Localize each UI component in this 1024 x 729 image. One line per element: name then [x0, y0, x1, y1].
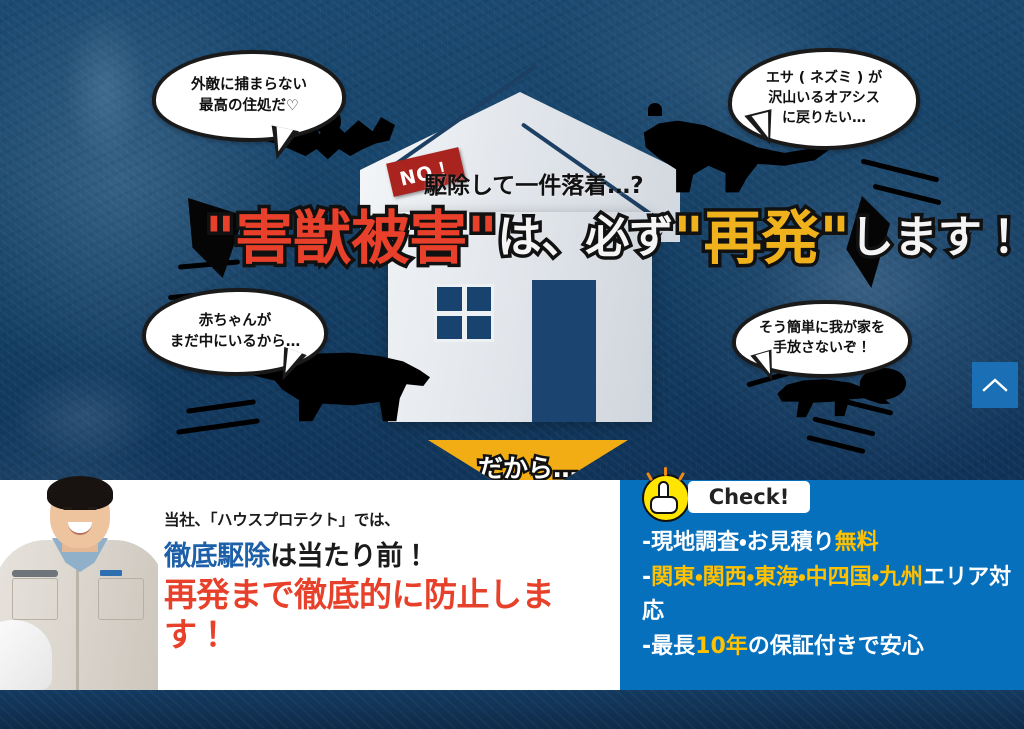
bubble-line: 外敵に捕まらない — [191, 75, 307, 96]
check-item-pre: - — [642, 565, 651, 590]
marten-speech-bubble: エサ ( ネズミ ) が 沢山いるオアシス に戻りたい… — [728, 48, 920, 150]
raccoon-speech-bubble: 赤ちゃんが まだ中にいるから… — [142, 288, 328, 376]
chevron-up-icon — [982, 377, 1008, 393]
bubble-line: そう簡単に我が家を — [759, 319, 885, 339]
rat-speech-bubble: そう簡単に我が家を 手放さないぞ！ — [732, 300, 912, 378]
marten-ear-icon — [648, 103, 662, 116]
copy-line-2-strong: 徹底駆除 — [164, 541, 270, 572]
check-item: -関東・関西・東海・中四国・九州エリア対応 — [642, 561, 1014, 628]
check-item-highlight: 関東・関西・東海・中四国・九州 — [651, 565, 923, 590]
bubble-line: エサ ( ネズミ ) が — [766, 69, 882, 89]
bubble-line: 沢山いるオアシス — [766, 89, 882, 109]
staff-photo — [0, 474, 158, 690]
copy-line-2: 徹底駆除は当たり前！ — [164, 534, 614, 573]
page-root: 外敵に捕まらない 最高の住処だ♡ エサ ( ネズミ ) が 沢山いるオアシス に… — [0, 0, 1024, 729]
copy-line-1: 当社、「ハウスプロテクト」では、 — [164, 508, 614, 530]
check-panel: Check! -現地調査・お見積り無料 -関東・関西・東海・中四国・九州エリア対… — [620, 480, 1024, 690]
copy-line-3: 再発まで徹底的に防止します！ — [164, 575, 614, 656]
check-item-highlight: 無料 — [835, 530, 879, 555]
bubble-line: に戻りたい… — [766, 109, 882, 129]
check-item-highlight: 10年 — [695, 634, 748, 659]
check-label: Check! — [688, 481, 810, 513]
pointing-hand-icon — [642, 474, 690, 522]
headline-part-recurrence: "再発" — [673, 197, 849, 279]
headline-part-connector: は、必ず — [497, 197, 673, 279]
headline-part-damage: "害獣被害" — [205, 197, 497, 279]
copy-line-2-rest: は当たり前！ — [270, 541, 429, 572]
lower-copy-block: 当社、「ハウスプロテクト」では、 徹底駆除は当たり前！ 再発まで徹底的に防止しま… — [164, 508, 614, 656]
footer-strip — [0, 690, 1024, 729]
check-item: -最長10年の保証付きで安心 — [642, 630, 1014, 663]
house-door — [532, 280, 596, 422]
bubble-line: 赤ちゃんが — [170, 311, 301, 332]
check-item: -現地調査・お見積り無料 — [642, 526, 1014, 559]
headline-part-suffix: します！ — [850, 197, 1024, 279]
check-item-pre: -現地調査・お見積り — [642, 530, 835, 555]
bubble-line: 最高の住処だ♡ — [191, 96, 307, 117]
bubble-line: 手放さないぞ！ — [759, 339, 885, 359]
bat-speech-bubble: 外敵に捕まらない 最高の住処だ♡ — [152, 50, 346, 142]
check-list: -現地調査・お見積り無料 -関東・関西・東海・中四国・九州エリア対応 -最長10… — [642, 526, 1014, 666]
uniform-logo-icon — [100, 570, 122, 576]
hero-headline: "害獣被害"は、必ず"再発"します！ — [205, 196, 885, 278]
check-item-post: の保証付きで安心 — [748, 634, 924, 659]
bubble-line: まだ中にいるから… — [170, 332, 301, 353]
check-item-pre: -最長 — [642, 634, 695, 659]
check-badge: Check! — [642, 476, 962, 518]
hero-subheadline: 駆除して一件落着…? — [424, 166, 644, 200]
scroll-to-top-button[interactable] — [972, 362, 1018, 408]
house-window-icon — [434, 284, 494, 342]
